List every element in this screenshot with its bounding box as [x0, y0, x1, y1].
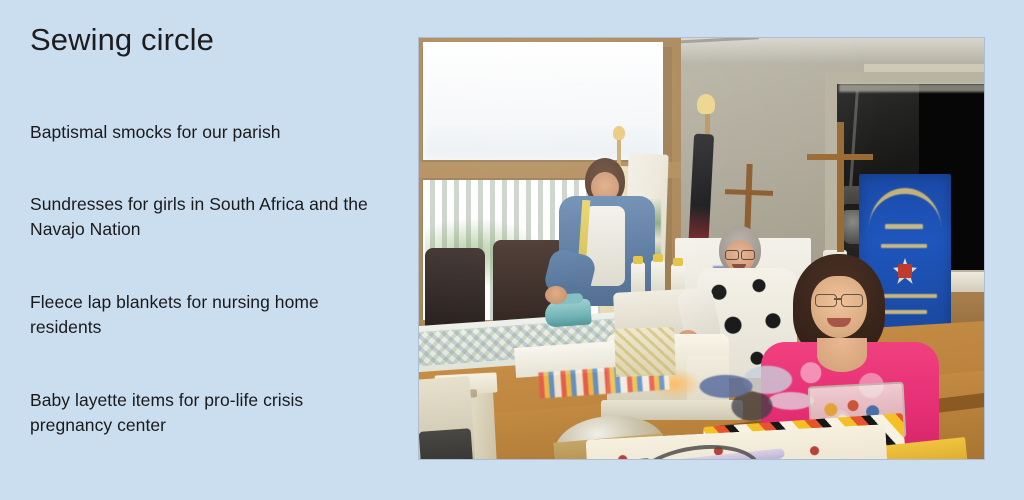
pink-top-eyeglasses-bridge [834, 298, 842, 300]
slide-text-column: Sewing circle Baptismal smocks for our p… [0, 0, 410, 500]
flag-finial-right [697, 94, 715, 114]
person-ironing-hand [545, 286, 567, 304]
page-title: Sewing circle [30, 20, 214, 60]
patterned-box [614, 327, 676, 377]
person-pink-top-neckline [817, 338, 867, 372]
pass-through-light [839, 84, 984, 92]
banner-text-line-4 [883, 310, 927, 314]
pink-top-eyeglasses-left-lens [815, 294, 837, 307]
fabric-scraps [687, 360, 817, 426]
flag-finial-left [613, 126, 625, 140]
bullet-item-1: Baptismal smocks for our parish [30, 120, 390, 145]
wooden-cross-large-horizontal [807, 154, 873, 160]
bullet-item-4: Baby layette items for pro-life crisis p… [30, 388, 390, 438]
window-transom [423, 42, 663, 160]
banner-text-line-1 [885, 224, 923, 229]
wooden-cross-large-vertical [837, 122, 844, 252]
banner-text-line-2 [881, 244, 927, 248]
bullet-item-3: Fleece lap blankets for nursing home res… [30, 290, 390, 340]
sewing-circle-photo [419, 38, 984, 459]
thread-cone-tip-2 [653, 254, 663, 262]
thread-cone-tip-1 [633, 256, 643, 264]
bullet-item-2: Sundresses for girls in South Africa and… [30, 192, 390, 242]
person-pink-top-face [811, 276, 867, 338]
eyeglasses-left-lens [725, 250, 739, 260]
pink-top-eyeglasses-right-lens [841, 294, 863, 307]
slide-canvas: Sewing circle Baptismal smocks for our p… [0, 0, 1024, 500]
thread-cone-tip-3 [673, 258, 683, 266]
banner-emblem-shield-icon [898, 264, 912, 278]
eyeglasses-right-lens [741, 250, 755, 260]
left-sewing-machine-base [419, 428, 475, 459]
